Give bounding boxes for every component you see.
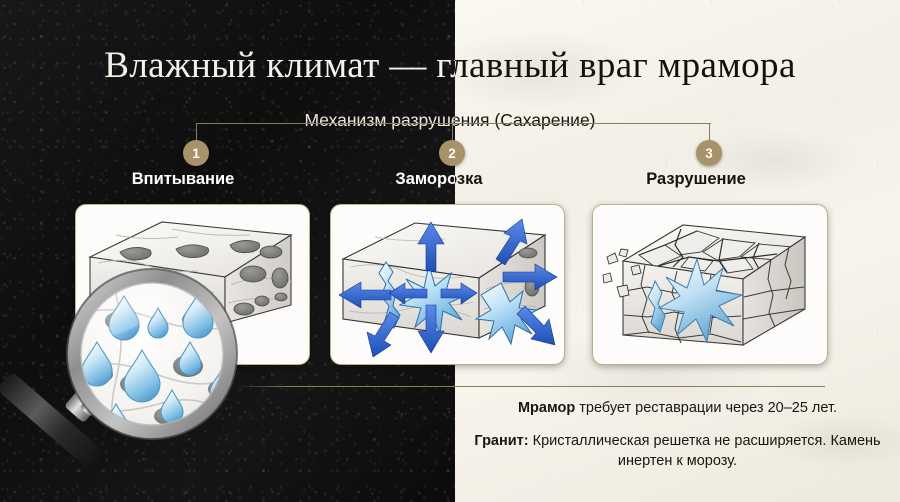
note-marble-rest: требует реставрации через 20–25 лет. (575, 400, 837, 416)
step-panel-3[interactable] (592, 204, 828, 365)
note-granite-strong: Гранит: (474, 433, 528, 449)
note-granite: Гранит: Кристаллическая решетка не расши… (455, 431, 900, 471)
step-number-badge-3: 3 (696, 140, 722, 166)
illustration-freezing (331, 205, 564, 364)
step-label-3: Разрушение (646, 170, 746, 189)
step-label-2-wrap: Заморозка Заморозка (395, 170, 482, 189)
step-label-1-text: Впитывание (132, 170, 235, 188)
step-label-3-text: Разрушение (646, 170, 746, 188)
step-panel-1[interactable] (75, 204, 310, 365)
step-label-2: Заморозка Заморозка (395, 170, 482, 189)
step-number-badge-1: 1 (183, 140, 209, 166)
note-marble-strong: Мрамор (518, 400, 575, 416)
note-marble: Мрамор требует реставрации через 20–25 л… (455, 398, 900, 418)
note-granite-rest: Кристаллическая решетка не расширяется. … (529, 433, 881, 469)
step-label-1: Впитывание (132, 170, 235, 189)
step-panel-2[interactable] (330, 204, 565, 365)
step-number-badge-2: 2 (439, 140, 465, 166)
illustration-destruction (593, 205, 827, 364)
bottom-divider (235, 386, 825, 387)
bracket-horizontal-line (196, 123, 711, 124)
illustration-absorption (76, 205, 309, 364)
slide-canvas: Влажный климат — главный враг мрамора Вл… (0, 0, 900, 502)
